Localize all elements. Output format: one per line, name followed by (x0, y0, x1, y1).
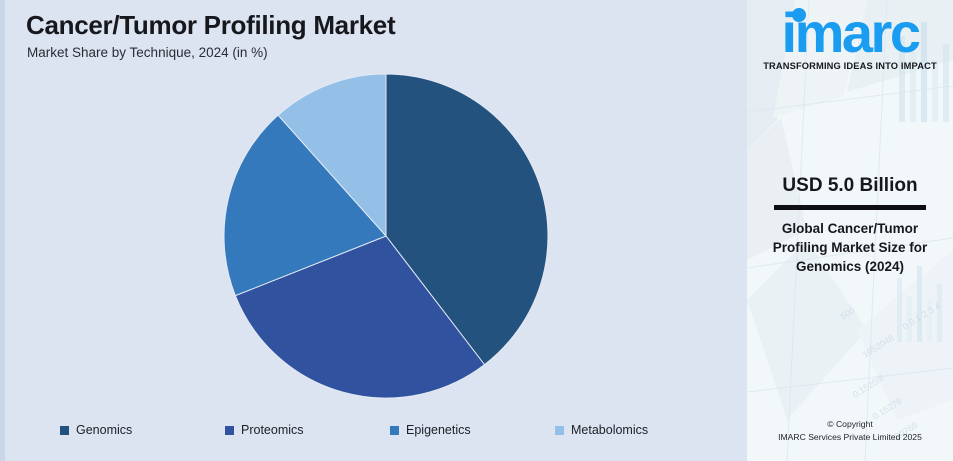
legend-swatch-epigenetics (390, 426, 399, 435)
legend-item-genomics[interactable]: Genomics (60, 423, 225, 437)
legend-label-proteomics: Proteomics (241, 423, 304, 437)
imarc-logo: imarc TRANSFORMING IDEAS INTO IMPACT (747, 6, 953, 71)
chart-area: Cancer/Tumor Profiling Market Market Sha… (0, 0, 747, 461)
copyright-line-2: IMARC Services Private Limited 2025 (747, 431, 953, 444)
legend-item-metabolomics[interactable]: Metabolomics (555, 423, 720, 437)
legend-label-metabolomics: Metabolomics (571, 423, 648, 437)
stat-description: Global Cancer/Tumor Profiling Market Siz… (760, 219, 940, 276)
legend-swatch-genomics (60, 426, 69, 435)
legend-label-epigenetics: Epigenetics (406, 423, 471, 437)
legend-item-epigenetics[interactable]: Epigenetics (390, 423, 555, 437)
legend-swatch-proteomics (225, 426, 234, 435)
page-title: Cancer/Tumor Profiling Market (26, 10, 395, 41)
pie-chart-svg (223, 73, 549, 399)
chart-subtitle: Market Share by Technique, 2024 (in %) (27, 45, 268, 60)
copyright-line-1: © Copyright (747, 418, 953, 431)
legend-swatch-metabolomics (555, 426, 564, 435)
chart-legend: Genomics Proteomics Epigenetics Metabolo… (60, 423, 720, 437)
stat-value: USD 5.0 Billion (747, 175, 953, 197)
side-panel: 0.1520/8 0.15278 20768 1052048 0.0 1 2 3… (747, 0, 953, 461)
legend-item-proteomics[interactable]: Proteomics (225, 423, 390, 437)
legend-label-genomics: Genomics (76, 423, 132, 437)
stat-divider (774, 205, 926, 210)
chart-infographic: Cancer/Tumor Profiling Market Market Sha… (0, 0, 953, 461)
logo-wordmark: imarc (782, 6, 919, 59)
copyright-block: © Copyright IMARC Services Private Limit… (747, 418, 953, 444)
pie-chart (223, 73, 549, 399)
logo-dot-icon (792, 8, 806, 22)
